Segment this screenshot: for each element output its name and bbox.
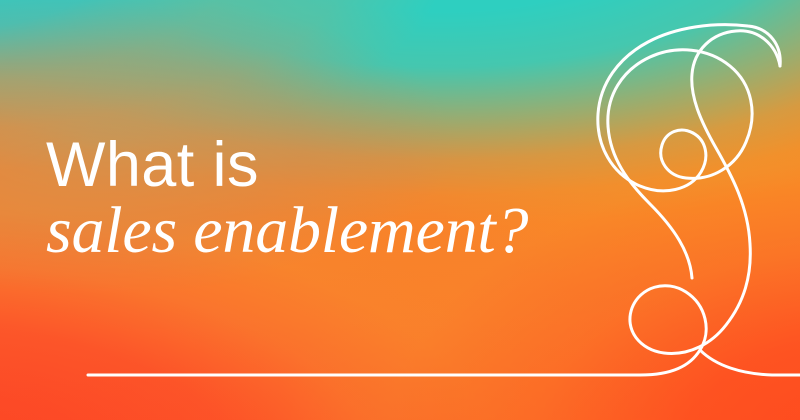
headline-line-1: What is	[46, 132, 646, 198]
question-mark-right-sweep	[700, 350, 800, 375]
headline-line-2: sales enablement?	[46, 196, 646, 266]
headline: What is sales enablement?	[46, 132, 646, 266]
banner-canvas: What is sales enablement?	[0, 0, 800, 420]
